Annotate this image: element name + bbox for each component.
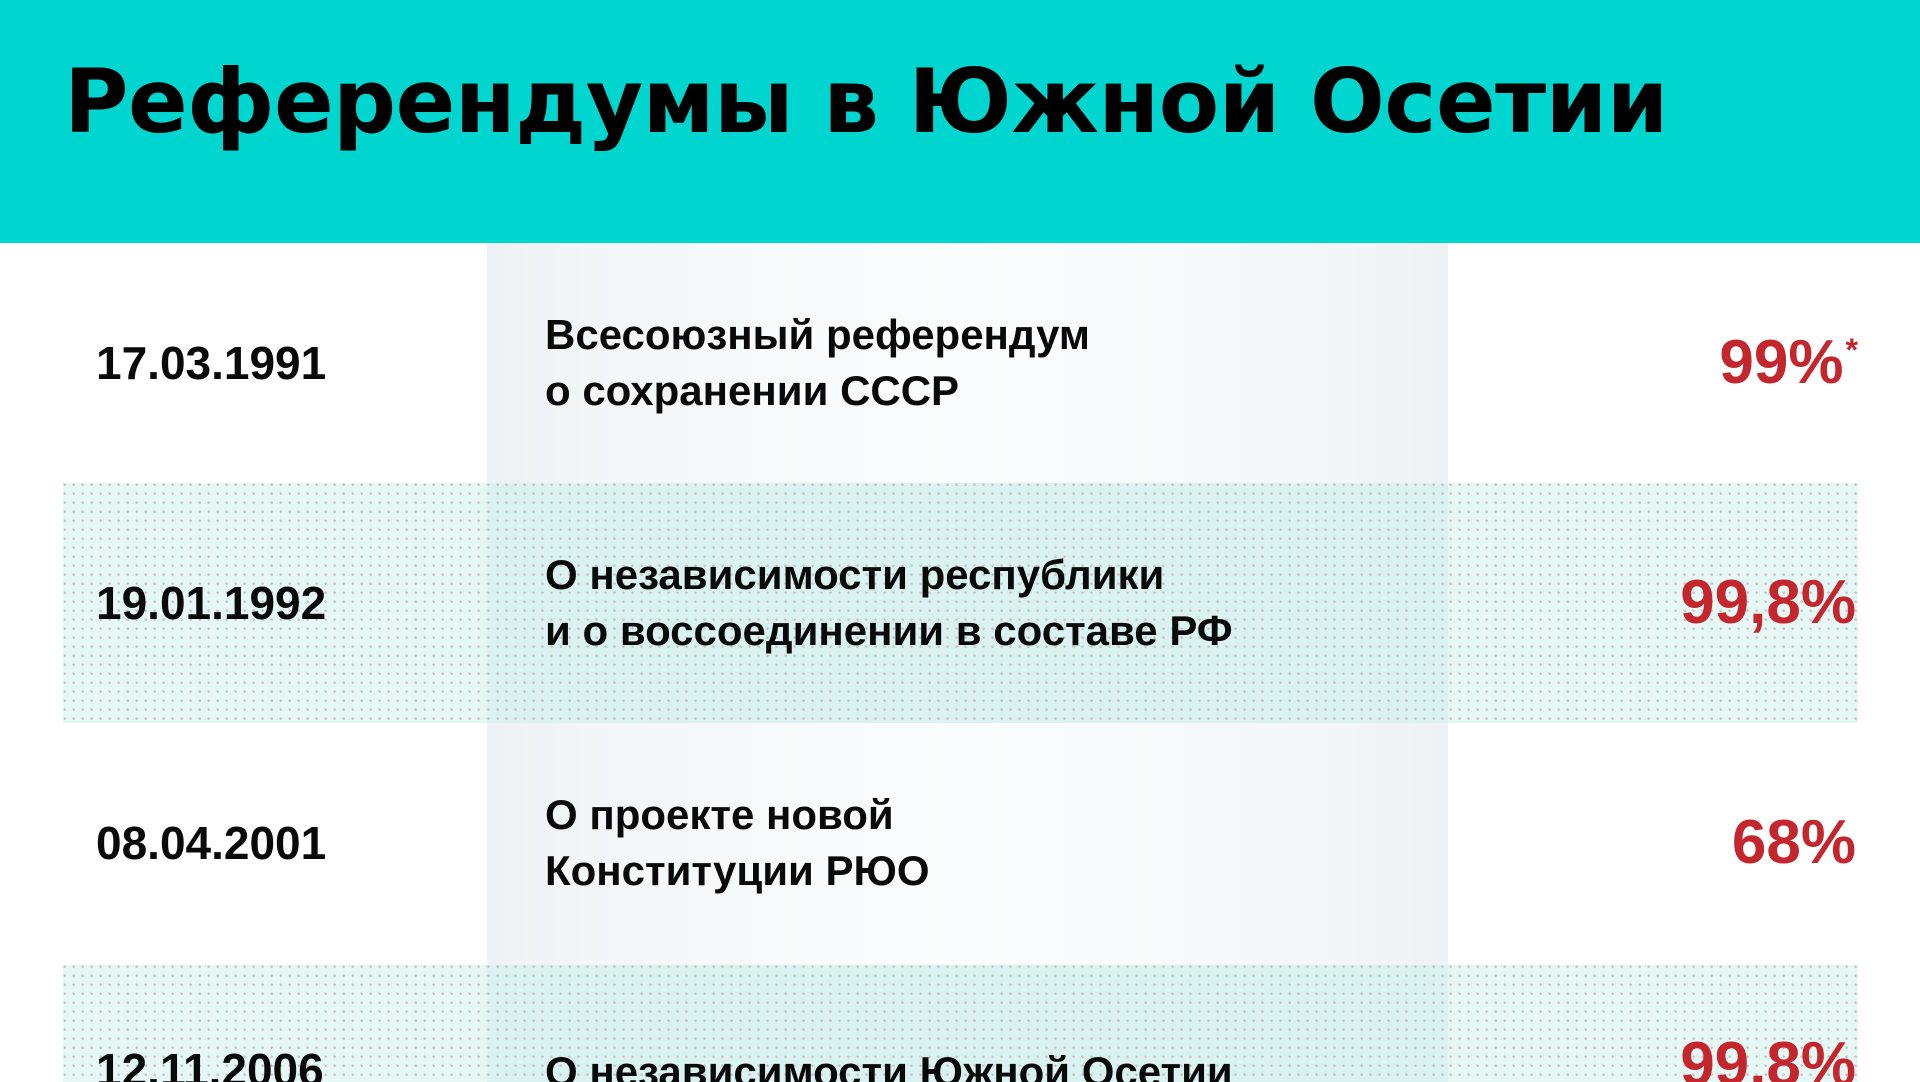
page-title: Референдумы в Южной Осетии — [64, 50, 1668, 154]
row-question: О независимости Южной Осетии — [545, 1044, 1435, 1082]
row-value-footnote-marker: * — [1845, 332, 1858, 368]
row-question: О проекте новой Конституции РЮО — [545, 787, 1435, 899]
row-question-line-2: и о воссоединении в составе РФ — [545, 603, 1435, 659]
row-date: 19.01.1992 — [96, 577, 456, 629]
row-value: 99,8% — [1680, 570, 1858, 636]
table-row: 12.11.2006 О независимости Южной Осетии … — [0, 965, 1920, 1082]
referendum-table: 17.03.1991 Всесоюзный референдум о сохра… — [0, 243, 1920, 1082]
row-value-number: 99,8% — [1680, 1030, 1856, 1082]
row-value-number: 99% — [1719, 328, 1843, 397]
header-band: Референдумы в Южной Осетии — [0, 0, 1920, 243]
table-row: 08.04.2001 О проекте новой Конституции Р… — [0, 723, 1920, 963]
infographic-page: Референдумы в Южной Осетии 17.03.1991 Вс… — [0, 0, 1920, 1082]
table-row: 19.01.1992 О независимости республики и … — [0, 483, 1920, 723]
row-question: О независимости республики и о воссоедин… — [545, 547, 1435, 659]
row-question-line-2: о сохранении СССР — [545, 363, 1435, 419]
row-value: 99,8% — [1680, 1032, 1858, 1082]
row-question-line-1: О независимости Южной Осетии — [545, 1044, 1435, 1082]
table-row: 17.03.1991 Всесоюзный референдум о сохра… — [0, 243, 1920, 483]
row-value: 68% — [1732, 810, 1858, 876]
row-question: Всесоюзный референдум о сохранении СССР — [545, 307, 1435, 419]
row-question-line-1: О независимости республики — [545, 547, 1435, 603]
row-question-line-1: О проекте новой — [545, 787, 1435, 843]
row-value: 99%* — [1719, 330, 1858, 396]
row-value-number: 68% — [1732, 808, 1856, 877]
row-date: 08.04.2001 — [96, 817, 456, 869]
row-date: 17.03.1991 — [96, 337, 456, 389]
row-date: 12.11.2006 — [96, 1044, 456, 1082]
row-question-line-2: Конституции РЮО — [545, 843, 1435, 899]
row-value-number: 99,8% — [1680, 568, 1856, 637]
row-question-line-1: Всесоюзный референдум — [545, 307, 1435, 363]
